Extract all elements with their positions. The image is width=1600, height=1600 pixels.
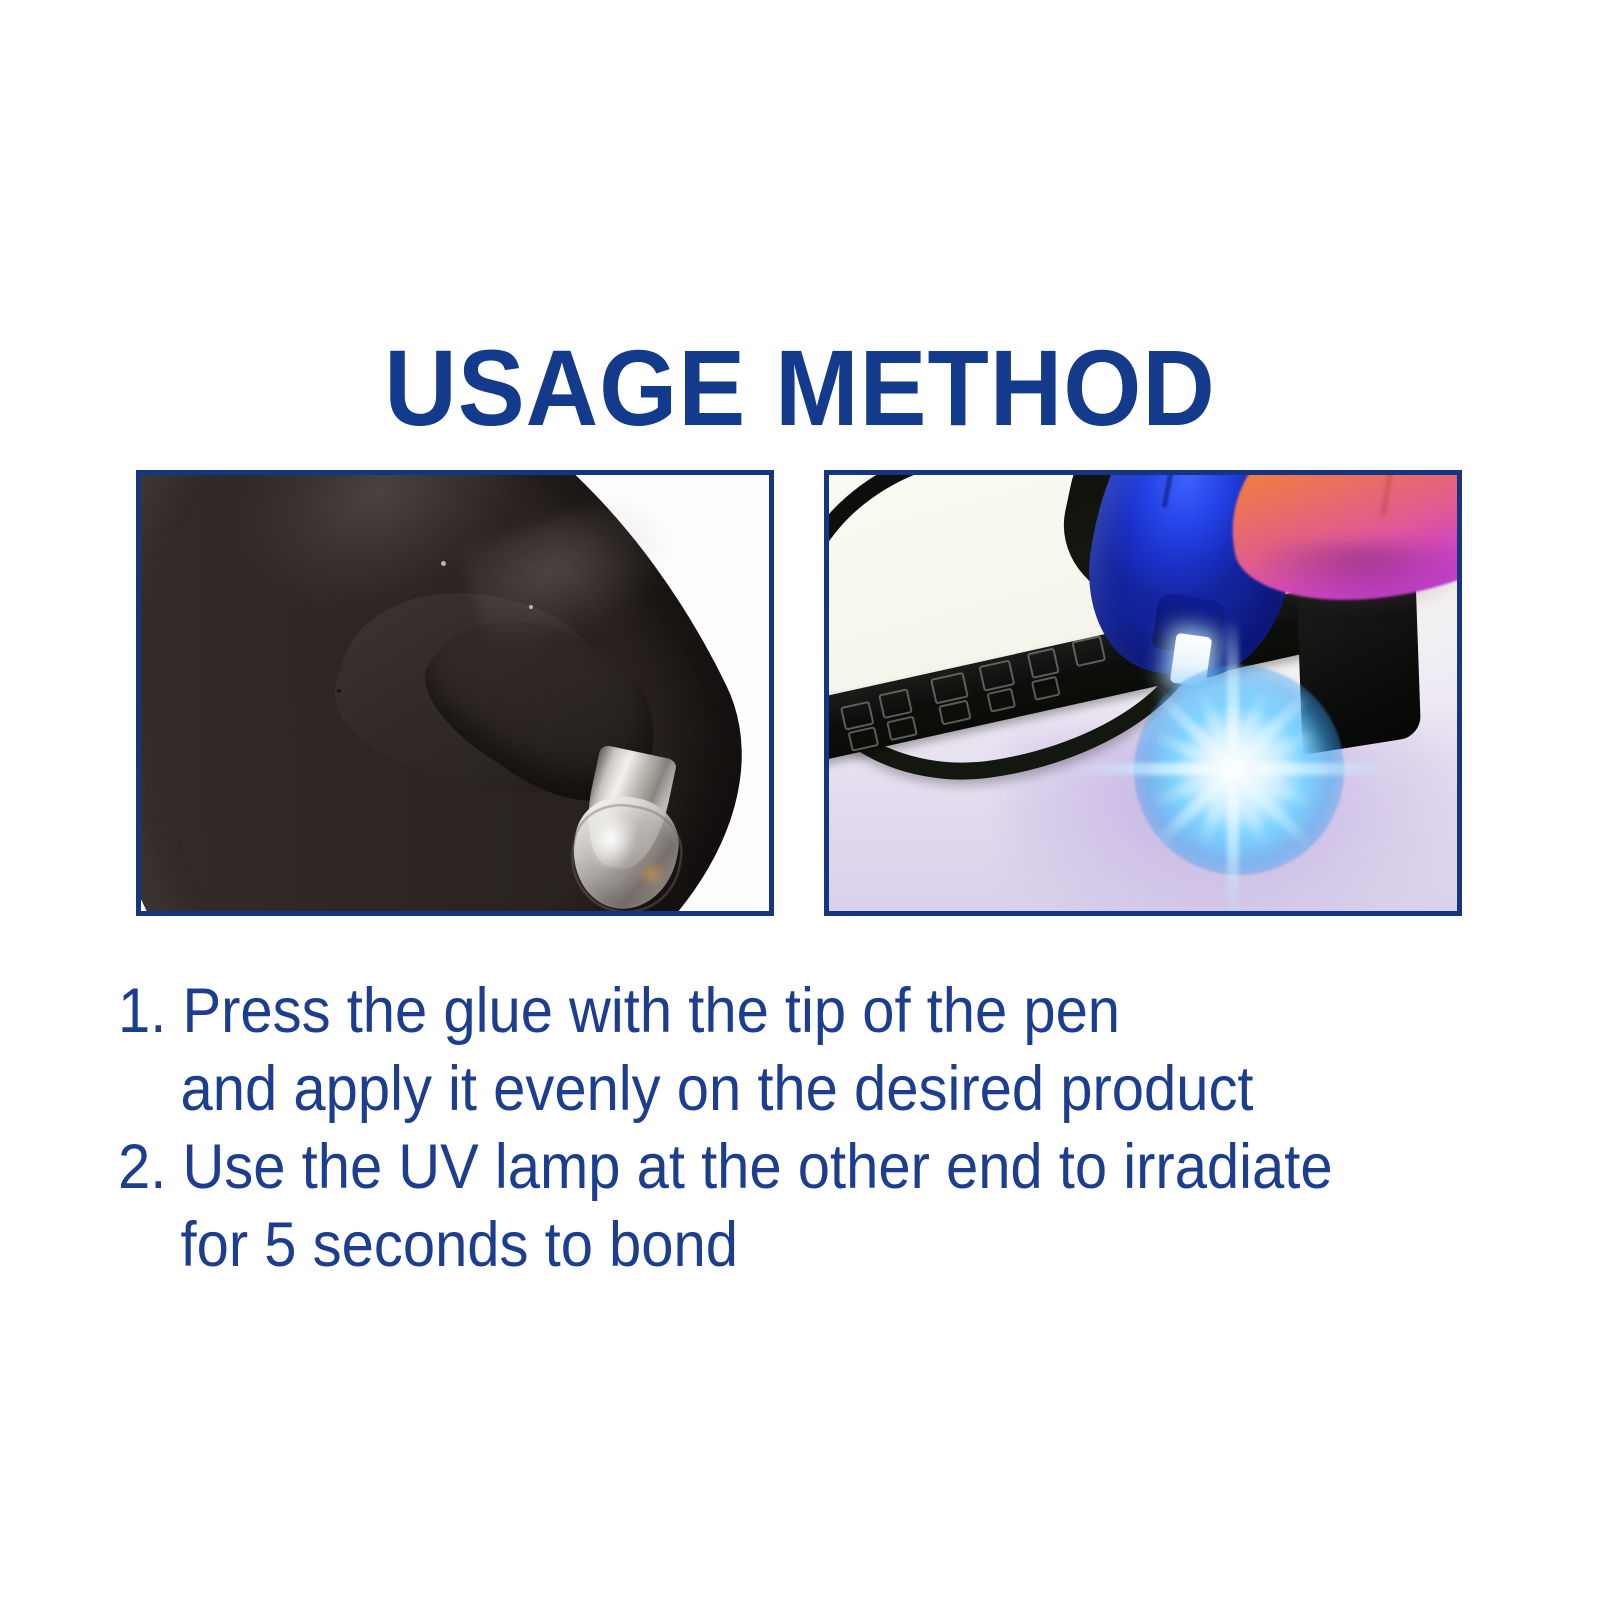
temple-pattern-square [986, 688, 1016, 713]
uv-curing-photo-panel [824, 470, 1462, 916]
photo-panel-row [136, 470, 1468, 922]
glue-droplet-reflection [637, 861, 667, 887]
temple-pattern-square [848, 726, 880, 752]
instruction-step-1-line-2: and apply it evenly on the desired produ… [118, 1050, 1406, 1128]
instruction-step-2-line-1: 2. Use the UV lamp at the other end to i… [118, 1128, 1406, 1206]
glue-pen-speck [441, 561, 446, 566]
finger-shadow [1249, 545, 1457, 615]
instruction-step-2-line-2: for 5 seconds to bond [118, 1206, 1406, 1284]
glue-pen-speck [529, 605, 533, 609]
instruction-step-1-line-1: 1. Press the glue with the tip of the pe… [118, 972, 1406, 1050]
glue-application-photo-panel [136, 470, 774, 916]
temple-pattern-square [1071, 635, 1106, 667]
glue-pen-tip-icon [141, 475, 769, 911]
temple-pattern-square [878, 688, 913, 719]
temple-pattern-square [938, 700, 972, 726]
temple-pattern-square [978, 659, 1015, 691]
instruction-list: 1. Press the glue with the tip of the pe… [118, 972, 1518, 1284]
temple-pattern-square [886, 716, 918, 742]
uv-pen-icon [829, 475, 1457, 911]
temple-pattern-square [1031, 676, 1061, 701]
page-title: USAGE METHOD [384, 334, 1215, 442]
temple-pattern-square [1027, 648, 1060, 679]
glue-pen-speck [337, 689, 341, 693]
